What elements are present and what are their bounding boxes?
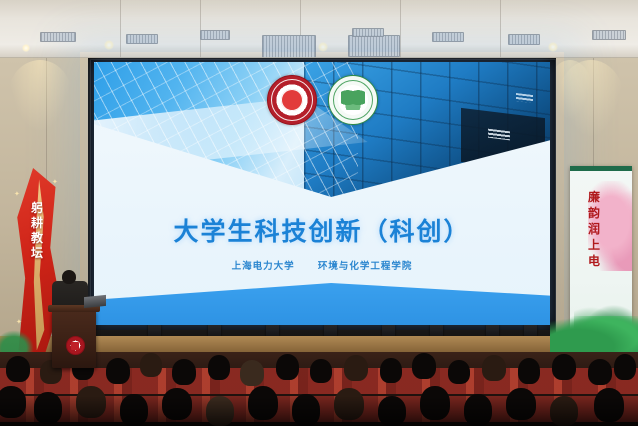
ceiling-vent — [40, 32, 76, 42]
audience-head — [208, 355, 230, 380]
audience-head — [482, 355, 506, 381]
ceiling-light — [318, 42, 328, 52]
banner-left-char-4: 坛 — [31, 247, 43, 259]
banner-right-char-5: 电 — [588, 255, 600, 267]
banner-left-char-3: 教 — [31, 232, 43, 244]
audience-head — [380, 358, 402, 383]
podium — [52, 310, 96, 368]
audience-head — [140, 353, 162, 377]
banner-right-text: 廉 韵 润 上 电 — [580, 191, 608, 267]
ceiling-vent — [352, 28, 384, 37]
slide-logos — [94, 75, 550, 125]
slide-subtitle-dept: 环境与化学工程学院 — [318, 258, 413, 272]
banner-left-char-2: 耕 — [31, 217, 43, 229]
ceiling-vent — [432, 32, 464, 42]
audience-head — [518, 358, 540, 384]
ceiling-vent — [592, 30, 626, 40]
presentation-slide: 大学生科技创新（科创） 上海电力大学 环境与化学工程学院 — [94, 62, 550, 325]
led-screen[interactable]: 大学生科技创新（科创） 上海电力大学 环境与化学工程学院 — [94, 62, 550, 325]
ceiling-light — [548, 42, 558, 52]
banner-right-char-1: 廉 — [588, 191, 600, 203]
audience-head — [588, 359, 612, 385]
banner-right-char-2: 韵 — [588, 207, 600, 219]
audience-head — [344, 355, 368, 381]
audience-head — [310, 359, 332, 383]
banner-left-char-1: 躬 — [31, 202, 43, 214]
slide-title: 大学生科技创新（科创） — [94, 212, 550, 248]
slide-bottom-chevron — [94, 283, 550, 325]
ceiling-vent — [262, 35, 316, 59]
bottom-vignette — [0, 396, 638, 426]
audience-head — [448, 360, 470, 384]
ceiling-vent — [348, 35, 400, 57]
audience-head — [412, 353, 436, 379]
slide-subtitle: 上海电力大学 环境与化学工程学院 — [94, 258, 550, 272]
audience-head — [276, 354, 299, 380]
audience-head — [172, 359, 196, 385]
podium-laptop — [84, 295, 106, 308]
ceiling-vent — [200, 30, 230, 40]
speaker-head — [62, 270, 76, 284]
audience-head — [6, 356, 30, 382]
audience-head — [614, 354, 636, 380]
ceiling-vent — [126, 34, 158, 44]
ceiling-light — [104, 40, 114, 50]
wall-downlight-glow — [8, 60, 72, 132]
banner-right-char-4: 上 — [588, 239, 600, 251]
banner-left-text: 躬 耕 教 坛 — [22, 202, 52, 259]
shanghai-university-of-electric-power-emblem-icon — [267, 75, 317, 125]
audience-head — [106, 358, 130, 384]
ceiling-light — [22, 44, 30, 52]
slide-subtitle-org: 上海电力大学 — [232, 258, 295, 272]
university-emblem-icon — [66, 336, 85, 355]
banner-right-char-3: 润 — [588, 223, 600, 235]
school-of-environmental-and-chemical-engineering-emblem-icon — [328, 75, 378, 125]
ceiling — [0, 0, 638, 62]
audience-head — [552, 354, 576, 380]
auditorium-photo: 大学生科技创新（科创） 上海电力大学 环境与化学工程学院 ✦ ✦ ✦ 躬 耕 教… — [0, 0, 638, 426]
ceiling-vent — [508, 34, 540, 45]
audience-head — [240, 360, 264, 386]
